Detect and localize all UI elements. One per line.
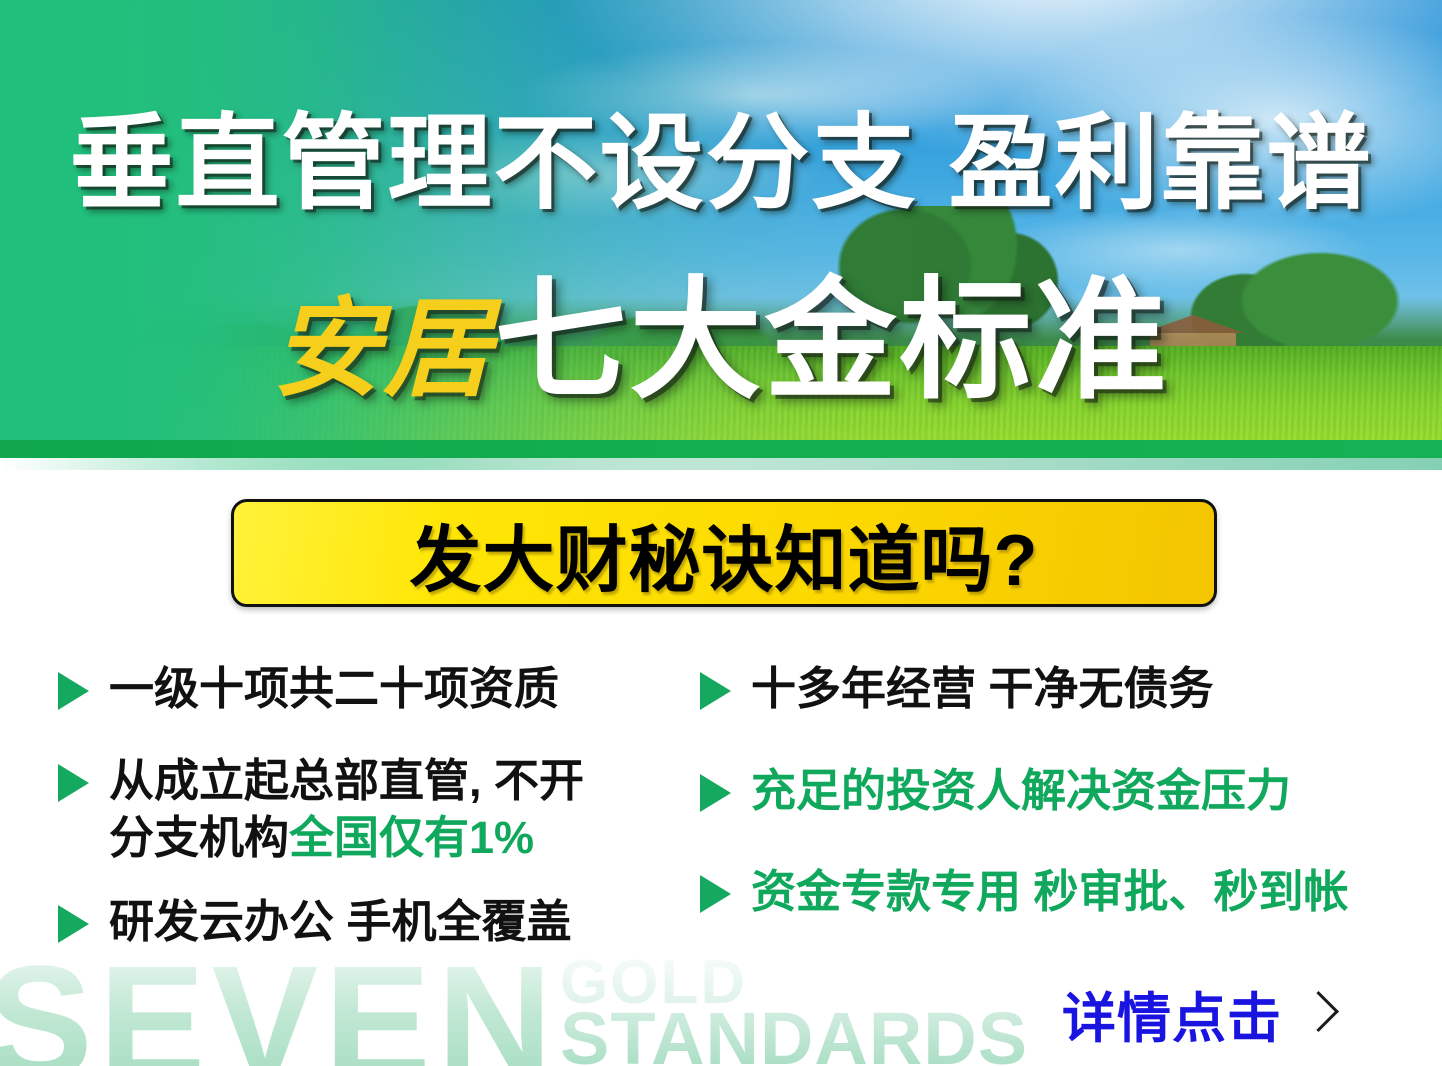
- feature-item-headquarters-direct: 从成立起总部直管, 不开 分支机构全国仅有1%: [58, 752, 698, 867]
- feature-line-part: 分支机构: [109, 812, 289, 863]
- feature-line: 一级十项共二十项资质: [109, 663, 559, 714]
- promo-banner-label: 发大财秘诀知道吗?: [410, 501, 1039, 606]
- promo-banner-button[interactable]: 发大财秘诀知道吗?: [231, 499, 1217, 607]
- triangle-right-icon: [700, 672, 731, 710]
- triangle-right-icon: [700, 875, 731, 913]
- features-left-column: 一级十项共二十项资质 从成立起总部直管, 不开 分支机构全国仅有1% 研发云办公…: [58, 660, 698, 984]
- feature-text: 从成立起总部直管, 不开 分支机构全国仅有1%: [109, 752, 584, 867]
- feature-line: 分支机构全国仅有1%: [109, 809, 584, 867]
- feature-line: 资金专款专用 秒审批、秒到帐: [751, 866, 1349, 917]
- feature-text: 研发云办公 手机全覆盖: [109, 893, 572, 951]
- details-cta-link[interactable]: 详情点击: [1062, 974, 1333, 1053]
- feature-line: 充足的投资人解决资金压力: [751, 765, 1291, 816]
- feature-text: 充足的投资人解决资金压力: [751, 762, 1291, 820]
- triangle-right-icon: [58, 764, 89, 802]
- feature-item-cloud-office: 研发云办公 手机全覆盖: [58, 893, 698, 951]
- feature-line: 从成立起总部直管, 不开: [109, 752, 584, 810]
- watermark-standards: STANDARDS: [560, 1002, 1028, 1066]
- triangle-right-icon: [58, 672, 89, 710]
- feature-text: 一级十项共二十项资质: [109, 660, 559, 718]
- advertisement-banner: 垂直管理不设分支 盈利靠谱 安居七大金标准 发大财秘诀知道吗? 一级十项共二十项…: [0, 0, 1442, 1066]
- feature-item-investors: 充足的投资人解决资金压力: [700, 762, 1430, 820]
- triangle-right-icon: [700, 774, 731, 812]
- triangle-right-icon: [58, 905, 89, 943]
- feature-text: 资金专款专用 秒审批、秒到帐: [751, 863, 1349, 921]
- chevron-right-icon: [1298, 991, 1339, 1032]
- feature-item-ten-years: 十多年经营 干净无债务: [700, 660, 1430, 718]
- feature-line: 研发云办公 手机全覆盖: [109, 896, 572, 947]
- feature-line: 十多年经营 干净无债务: [751, 663, 1214, 714]
- features-right-column: 十多年经营 干净无债务 充足的投资人解决资金压力 资金专款专用 秒审批、秒到帐: [700, 660, 1430, 965]
- feature-item-dedicated-funds: 资金专款专用 秒审批、秒到帐: [700, 863, 1430, 921]
- feature-text: 十多年经营 干净无债务: [751, 660, 1214, 718]
- features-section: 一级十项共二十项资质 从成立起总部直管, 不开 分支机构全国仅有1% 研发云办公…: [0, 660, 1442, 990]
- details-cta-label: 详情点击: [1062, 974, 1282, 1053]
- green-gradient-overlay: [0, 0, 1442, 470]
- feature-item-qualifications: 一级十项共二十项资质: [58, 660, 698, 718]
- hero-green-divider-bar: [0, 440, 1442, 458]
- feature-line-highlight: 全国仅有1%: [289, 812, 534, 863]
- hero-section: 垂直管理不设分支 盈利靠谱 安居七大金标准: [0, 0, 1442, 470]
- hero-fade-strip: [0, 458, 1442, 470]
